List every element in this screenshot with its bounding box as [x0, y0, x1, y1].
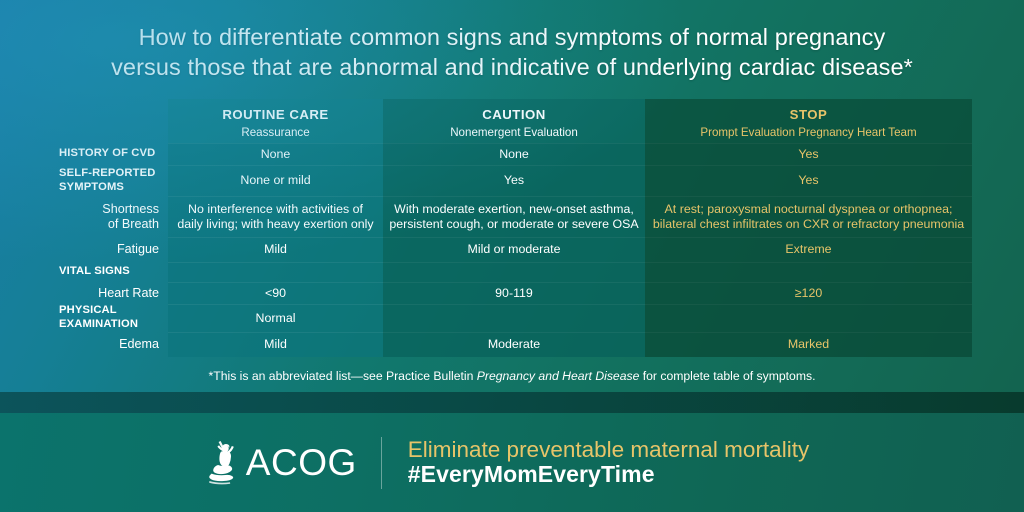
footer-divider — [381, 437, 382, 489]
infographic-canvas: How to differentiate common signs and sy… — [0, 0, 1024, 512]
cell-routine: Normal — [168, 304, 383, 332]
tagline-line-1: Eliminate preventable maternal mortality — [408, 437, 809, 462]
column-header-stop-sub: Prompt Evaluation Pregnancy Heart Team — [700, 126, 916, 141]
table-row: HISTORY OF CVD None None Yes — [55, 143, 972, 165]
cell-text: <90 — [265, 286, 286, 301]
footnote-suffix: for complete table of symptoms. — [639, 369, 815, 383]
footer-tagline: Eliminate preventable maternal mortality… — [408, 437, 809, 488]
column-header-routine-care-sub: Reassurance — [222, 126, 328, 141]
cell-text: Mild or moderate — [468, 242, 561, 257]
table-row: VITAL SIGNS — [55, 262, 972, 282]
cell-routine: <90 — [168, 282, 383, 304]
row-label-line-2: EXAMINATION — [59, 318, 168, 332]
table-row: PHYSICAL EXAMINATION Normal — [55, 304, 972, 332]
acog-logo[interactable]: ACOG — [205, 438, 357, 488]
cell-caution: 90-119 — [383, 282, 645, 304]
table-row: Fatigue Mild Mild or moderate Extreme — [55, 237, 972, 262]
row-label-line-1: PHYSICAL — [59, 304, 168, 318]
column-header-caution-main: CAUTION — [450, 108, 578, 123]
footnote-prefix: *This is an abbreviated list—see Practic… — [209, 369, 477, 383]
row-label-line-2: of Breath — [55, 217, 159, 232]
cell-text: None or mild — [240, 173, 310, 188]
cell-routine: Mild — [168, 237, 383, 262]
symptoms-table: ROUTINE CARE Reassurance CAUTION Nonemer… — [55, 99, 972, 353]
table-header-row: ROUTINE CARE Reassurance CAUTION Nonemer… — [55, 99, 972, 143]
cell-text: Mild — [264, 242, 287, 257]
cell-caution — [383, 262, 645, 282]
title-line-2: versus those that are abnormal and indic… — [48, 52, 976, 82]
column-header-stop-main: STOP — [700, 108, 916, 123]
column-header-stop: STOP Prompt Evaluation Pregnancy Heart T… — [645, 99, 972, 143]
row-label-line-1: SELF-REPORTED — [59, 167, 168, 181]
cell-text: Yes — [798, 147, 818, 162]
cell-stop: Extreme — [645, 237, 972, 262]
column-header-routine-care-main: ROUTINE CARE — [222, 108, 328, 123]
row-label-shortness-of-breath: Shortness of Breath — [55, 196, 168, 237]
table-row: Shortness of Breath No interference with… — [55, 196, 972, 237]
cell-stop — [645, 262, 972, 282]
cell-routine: No interference with activities of daily… — [168, 196, 383, 237]
footnote-italic-title: Pregnancy and Heart Disease — [477, 369, 640, 383]
page-title: How to differentiate common signs and sy… — [0, 22, 1024, 82]
cell-caution: Moderate — [383, 332, 645, 357]
cell-text: With moderate exertion, new-onset asthma… — [389, 202, 639, 231]
acog-wordmark: ACOG — [246, 444, 357, 481]
row-label-self-reported-symptoms: SELF-REPORTED SYMPTOMS — [55, 165, 168, 196]
cell-caution: None — [383, 143, 645, 165]
cell-routine: None or mild — [168, 165, 383, 196]
cell-routine: Mild — [168, 332, 383, 357]
cell-caution: Mild or moderate — [383, 237, 645, 262]
cell-stop: ≥120 — [645, 282, 972, 304]
cell-text: Marked — [788, 337, 829, 352]
cell-text: Yes — [798, 173, 818, 188]
cell-text: Extreme — [785, 242, 831, 257]
cell-text: Mild — [264, 337, 287, 352]
cell-text: 90-119 — [495, 286, 533, 301]
row-label-vital-signs: VITAL SIGNS — [55, 262, 168, 282]
footer-bar: ACOG Eliminate preventable maternal mort… — [0, 413, 1024, 512]
column-header-caution-sub: Nonemergent Evaluation — [450, 126, 578, 141]
column-header-routine-care: ROUTINE CARE Reassurance — [168, 99, 383, 143]
row-label-line-2: SYMPTOMS — [59, 181, 168, 195]
cell-caution — [383, 304, 645, 332]
row-label-fatigue: Fatigue — [55, 237, 168, 262]
cell-text: Normal — [256, 311, 296, 326]
divider-band — [0, 392, 1024, 413]
tagline-hashtag: #EveryMomEveryTime — [408, 462, 809, 488]
acog-kneeling-figure-icon — [205, 438, 241, 488]
cell-routine — [168, 262, 383, 282]
cell-text: Moderate — [488, 337, 540, 352]
table-row: SELF-REPORTED SYMPTOMS None or mild Yes … — [55, 165, 972, 196]
row-label-line-1: Shortness — [55, 202, 159, 217]
cell-text: ≥120 — [795, 286, 822, 301]
table-row: Edema Mild Moderate Marked — [55, 332, 972, 357]
cell-caution: With moderate exertion, new-onset asthma… — [383, 196, 645, 237]
cell-text: None — [499, 147, 529, 162]
cell-text: Yes — [504, 173, 524, 188]
cell-text: None — [261, 147, 291, 162]
cell-stop — [645, 304, 972, 332]
row-label-edema: Edema — [55, 332, 168, 357]
cell-routine: None — [168, 143, 383, 165]
row-label-physical-examination: PHYSICAL EXAMINATION — [55, 304, 168, 332]
cell-text: No interference with activities of daily… — [174, 202, 377, 231]
cell-text: At rest; paroxysmal nocturnal dyspnea or… — [651, 202, 966, 231]
row-label-heart-rate: Heart Rate — [55, 282, 168, 304]
title-line-1: How to differentiate common signs and sy… — [48, 22, 976, 52]
cell-stop: Yes — [645, 165, 972, 196]
cell-stop: Yes — [645, 143, 972, 165]
cell-stop: Marked — [645, 332, 972, 357]
cell-caution: Yes — [383, 165, 645, 196]
table-row: Heart Rate <90 90-119 ≥120 — [55, 282, 972, 304]
footnote: *This is an abbreviated list—see Practic… — [0, 369, 1024, 383]
table-corner-blank — [55, 99, 168, 143]
column-header-caution: CAUTION Nonemergent Evaluation — [383, 99, 645, 143]
row-label-history-of-cvd: HISTORY OF CVD — [55, 143, 168, 165]
cell-stop: At rest; paroxysmal nocturnal dyspnea or… — [645, 196, 972, 237]
